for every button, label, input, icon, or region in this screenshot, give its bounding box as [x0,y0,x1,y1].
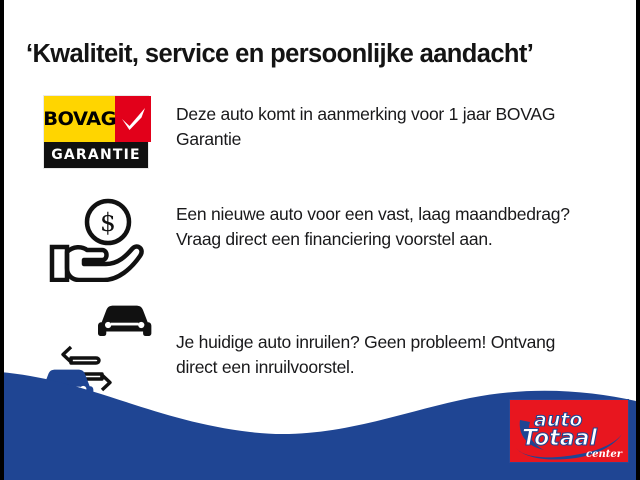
left-edge-bar [0,0,4,480]
feature-row-bovag-garantie: BOVAG GARANTIE Deze auto komt in aanmerk… [36,96,596,168]
logo-text-totaal: Totaal [522,426,597,451]
bovag-logo-slot: BOVAG GARANTIE [36,96,156,168]
feature-row-financiering: $ Een nieuwe auto voor een vast, laag ma… [36,196,576,282]
bovag-logo-black-panel: GARANTIE [44,142,148,168]
right-edge-bar [636,0,640,480]
hand-holding-coin-icon: $ [46,196,146,282]
feature-text-financiering: Een nieuwe auto voor een vast, laag maan… [156,196,576,252]
feature-text-bovag: Deze auto komt in aanmerking voor 1 jaar… [156,96,596,152]
bovag-garantie-wordmark: GARANTIE [51,147,141,163]
car-black-icon [98,306,151,336]
svg-text:$: $ [100,208,116,237]
check-mark-icon [118,104,148,134]
logo-text-center: center [586,449,623,460]
bovag-wordmark: BOVAG [43,108,116,130]
finance-icon-slot: $ [36,196,156,282]
bovag-logo-top: BOVAG [44,96,148,142]
promo-banner: ‘Kwaliteit, service en persoonlijke aand… [0,0,640,480]
page-title: ‘Kwaliteit, service en persoonlijke aand… [26,40,626,69]
bovag-logo-red-panel [115,96,151,142]
auto-totaal-center-logo[interactable]: auto Totaal center [510,400,628,462]
bovag-garantie-logo: BOVAG GARANTIE [44,96,148,168]
bovag-logo-yellow-panel: BOVAG [44,96,115,142]
